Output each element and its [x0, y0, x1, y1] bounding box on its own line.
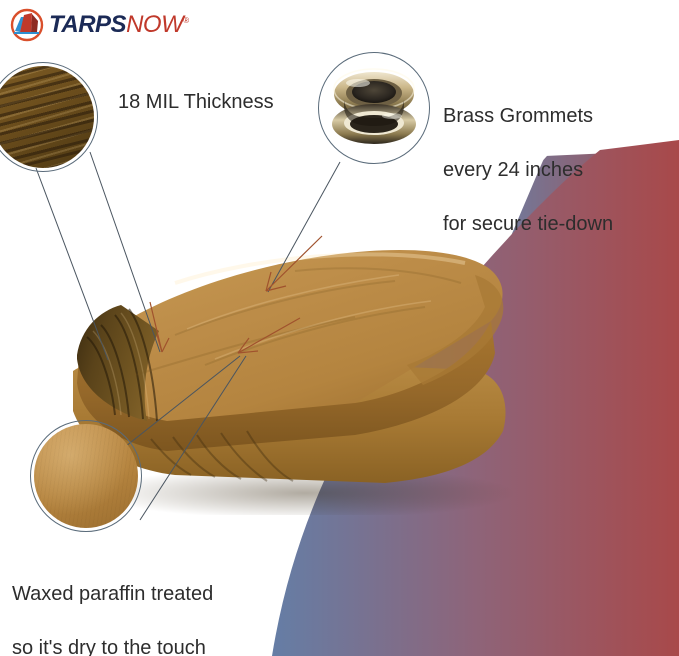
- product-infographic: TARPSNOW®: [0, 0, 679, 656]
- grommets-line-3: for secure tie-down: [443, 211, 613, 238]
- brand-name-primary: TARPS: [49, 11, 126, 38]
- waxed-detail-circle: [34, 424, 138, 528]
- waxed-line-1: Waxed paraffin treated: [12, 581, 213, 608]
- grommets-line-1: Brass Grommets: [443, 103, 613, 130]
- tarps-circle-logo-icon: [10, 8, 44, 42]
- brand-wordmark: TARPSNOW®: [49, 13, 189, 37]
- grommet-detail-circle: [322, 56, 426, 160]
- grommets-line-2: every 24 inches: [443, 157, 613, 184]
- brass-grommet-closeup-icon: [322, 56, 426, 160]
- registered-mark-icon: ®: [183, 16, 188, 25]
- callout-label-grommets: Brass Grommets every 24 inches for secur…: [443, 76, 613, 265]
- waxed-canvas-surface-closeup-icon: [34, 424, 138, 528]
- callout-label-waxed: Waxed paraffin treated so it's dry to th…: [12, 554, 213, 656]
- brand-logo[interactable]: TARPSNOW®: [10, 8, 189, 42]
- brand-name-secondary: NOW: [126, 11, 183, 38]
- waxed-line-2: so it's dry to the touch: [12, 635, 213, 656]
- callout-label-thickness: 18 MIL Thickness: [118, 90, 274, 114]
